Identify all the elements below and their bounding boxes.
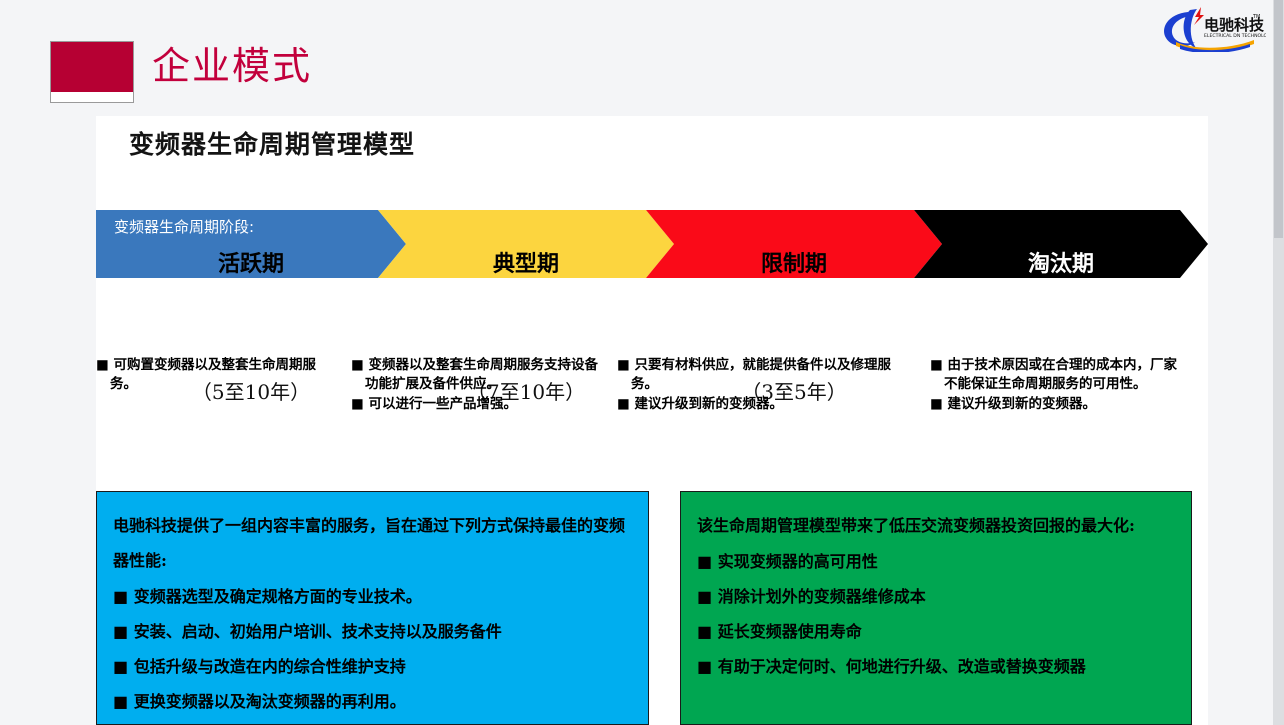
page-title: 企业模式 — [152, 41, 312, 91]
lifecycle-stage-3[interactable]: 限制期 — [646, 210, 942, 278]
benefits-box-green-bullet: ■ 延长变频器使用寿命 — [697, 614, 1177, 649]
services-box-blue-bullet: ■ 安装、启动、初始用户培训、技术支持以及服务备件 — [113, 614, 634, 649]
benefits-box-green-bullet: ■ 有助于决定何时、何地进行升级、改造或替换变频器 — [697, 649, 1177, 684]
services-box-blue-bullet: ■ 变频器选型及确定规格方面的专业技术。 — [113, 579, 634, 614]
services-box-blue-content: 电驰科技提供了一组内容丰富的服务，旨在通过下列方式保持最佳的变频器性能: ■ 变… — [97, 492, 648, 719]
stage-detail-line: ■ 可购置变频器以及整套生命周期服务。 — [96, 356, 340, 394]
benefits-box-green-bullet: ■ 消除计划外的变频器维修成本 — [697, 579, 1177, 614]
slide-root: 企业模式 电驰科技 ELECTRICAL DN TECHNOLOGY TM — [0, 0, 1284, 725]
stage-detail-columns: ■ 可购置变频器以及整套生命周期服务。 ■ 变频器以及整套生命周期服务支持设备功… — [96, 356, 1208, 466]
scrollbar-track[interactable] — [1273, 0, 1284, 725]
lifecycle-chevron-band: 变频器生命周期阶段: 活跃期 典型期 限制期 — [96, 210, 1208, 278]
stage-detail-column-4: ■ 由于技术原因或在合理的成本内，厂家不能保证生命周期服务的可用性。 ■ 建议升… — [930, 356, 1178, 415]
benefits-box-green-content: 该生命周期管理模型带来了低压交流变频器投资回报的最大化: ■ 实现变频器的高可用… — [681, 492, 1191, 684]
stage-detail-column-3: ■ 只要有材料供应，就能提供备件以及修理服务。 ■ 建议升级到新的变频器。 — [617, 356, 903, 415]
lifecycle-stage-3-name: 限制期 — [646, 246, 942, 278]
stage-detail-line: ■ 可以进行一些产品增强。 — [351, 395, 601, 414]
stage-detail-line: ■ 由于技术原因或在合理的成本内，厂家不能保证生命周期服务的可用性。 — [930, 356, 1178, 394]
stage-detail-line: ■ 变频器以及整套生命周期服务支持设备功能扩展及备件供应。 — [351, 356, 601, 394]
benefits-box-green-intro: 该生命周期管理模型带来了低压交流变频器投资回报的最大化: — [697, 508, 1177, 543]
logo-brand-text: 电驰科技 ELECTRICAL DN TECHNOLOGY TM — [1204, 14, 1266, 39]
lifecycle-stage-2-name: 典型期 — [378, 246, 674, 278]
logo-swoosh-icon — [1164, 9, 1197, 48]
lifecycle-stage-4-name: 淘汰期 — [914, 246, 1208, 278]
services-box-blue-bullet: ■ 更换变频器以及淘汰变频器的再利用。 — [113, 684, 634, 719]
panel-heading: 变频器生命周期管理模型 — [129, 125, 415, 161]
svg-text:ELECTRICAL DN TECHNOLOGY: ELECTRICAL DN TECHNOLOGY — [1204, 33, 1266, 39]
svg-text:TM: TM — [1252, 14, 1260, 20]
stage-detail-line: ■ 建议升级到新的变频器。 — [617, 395, 903, 414]
stage-detail-column-1: ■ 可购置变频器以及整套生命周期服务。 — [96, 356, 340, 395]
stage-detail-column-2: ■ 变频器以及整套生命周期服务支持设备功能扩展及备件供应。 ■ 可以进行一些产品… — [351, 356, 601, 415]
lifecycle-stage-caption: 变频器生命周期阶段: — [114, 216, 254, 237]
slide-header: 企业模式 电驰科技 ELECTRICAL DN TECHNOLOGY TM — [0, 0, 1284, 114]
services-box-blue[interactable]: 电驰科技提供了一组内容丰富的服务，旨在通过下列方式保持最佳的变频器性能: ■ 变… — [96, 491, 649, 725]
lifecycle-stage-2[interactable]: 典型期 — [378, 210, 674, 278]
benefits-box-green-bullet: ■ 实现变频器的高可用性 — [697, 544, 1177, 579]
title-accent-fill — [51, 42, 133, 92]
stage-detail-line: ■ 只要有材料供应，就能提供备件以及修理服务。 — [617, 356, 903, 394]
title-accent-block — [50, 41, 134, 103]
services-box-blue-intro: 电驰科技提供了一组内容丰富的服务，旨在通过下列方式保持最佳的变频器性能: — [113, 508, 634, 578]
benefits-box-green[interactable]: 该生命周期管理模型带来了低压交流变频器投资回报的最大化: ■ 实现变频器的高可用… — [680, 491, 1192, 725]
scrollbar-thumb[interactable] — [1274, 0, 1283, 238]
lifecycle-stage-4[interactable]: 淘汰期 — [914, 210, 1208, 278]
lifecycle-stage-1[interactable]: 变频器生命周期阶段: 活跃期 — [96, 210, 406, 278]
company-logo: 电驰科技 ELECTRICAL DN TECHNOLOGY TM — [1154, 4, 1266, 52]
logo-underline-icon — [1176, 40, 1254, 52]
services-box-blue-bullet: ■ 包括升级与改造在内的综合性维护支持 — [113, 649, 634, 684]
stage-detail-line: ■ 建议升级到新的变频器。 — [930, 395, 1178, 414]
